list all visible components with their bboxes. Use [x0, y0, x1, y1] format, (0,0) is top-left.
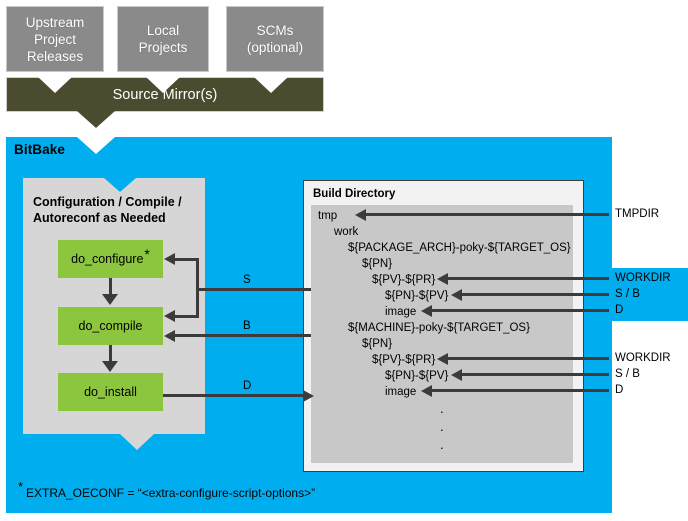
connector-line-workdir-2 — [448, 357, 609, 360]
task-do-compile[interactable]: do_compile — [58, 307, 163, 345]
connector-arrow-icon-tmpdir — [355, 209, 366, 221]
flow-line-d — [163, 394, 303, 397]
config-panel-title: Configuration / Compile / Autoreconf as … — [33, 194, 203, 226]
source-box-line: Releases — [26, 48, 85, 65]
connector-line-tmpdir — [366, 213, 609, 216]
connector-arrow-icon-sb-2 — [451, 369, 462, 381]
side-label-workdir-2: WORKDIR — [615, 352, 671, 364]
bitbake-inlet-notch-icon — [77, 137, 115, 154]
task-label: do_install — [84, 385, 137, 399]
ellipsis-dot: . — [440, 424, 444, 430]
mirror-output-arrow-icon — [77, 111, 115, 128]
mirror-notch-icon — [254, 77, 288, 93]
connector-line-workdir-1 — [448, 277, 609, 280]
flow-arrow-icon-b — [164, 330, 175, 342]
dir-entry-pn-pv-dir-2: ${PN}-${PV} — [385, 370, 448, 382]
flow-arrow-icon-s-compile — [164, 310, 175, 322]
connector-arrow-icon-d-2 — [421, 385, 432, 397]
connector-line-sb-1 — [462, 293, 609, 296]
dir-entry-pn-dir-2: ${PN} — [362, 338, 392, 350]
task-flow-line — [109, 345, 112, 362]
build-directory-title: Build Directory — [313, 188, 395, 200]
diagram-root: Upstream Project Releases Local Projects… — [0, 0, 688, 521]
source-box-upstream-project-releases: Upstream Project Releases — [6, 6, 104, 72]
dir-entry-machine-dir: ${MACHINE}-poky-${TARGET_OS} — [348, 322, 530, 334]
ellipsis-dot: . — [440, 406, 444, 412]
task-do-install[interactable]: do_install — [58, 373, 163, 411]
flow-line-s-to-configure — [175, 258, 199, 261]
dir-entry-image-dir-1: image — [385, 306, 416, 318]
dir-entry-image-dir-2: image — [385, 386, 416, 398]
side-label-d-1: D — [615, 304, 623, 316]
connector-arrow-icon-workdir-2 — [437, 353, 448, 365]
dir-entry-package-arch-dir: ${PACKAGE_ARCH}-poky-${TARGET_OS} — [348, 242, 571, 254]
connector-arrow-icon-sb-1 — [451, 289, 462, 301]
config-panel-title-line2: Autoreconf as Needed — [33, 210, 203, 226]
source-box-line: Project — [26, 31, 85, 48]
config-panel-title-line1: Configuration / Compile / — [33, 194, 203, 210]
side-label-d-2: D — [615, 384, 623, 396]
connector-arrow-icon-d-1 — [421, 305, 432, 317]
task-flow-arrow-icon — [102, 361, 118, 372]
source-box-local-projects: Local Projects — [117, 6, 209, 72]
connector-arrow-icon-workdir-1 — [437, 273, 448, 285]
side-label-tmpdir: TMPDIR — [615, 208, 659, 220]
source-box-line: (optional) — [247, 39, 303, 56]
source-box-line: Local — [139, 22, 188, 39]
dir-entry-pv-pr-dir-1: ${PV}-${PR} — [372, 274, 435, 286]
flow-label-d: D — [243, 380, 251, 392]
footnote-text: EXTRA_OECONF = “<extra-configure-script-… — [26, 486, 315, 500]
config-panel-notch-icon — [104, 178, 136, 192]
dir-entry-work: work — [334, 226, 358, 238]
side-label-sb-1: S / B — [615, 288, 640, 300]
flow-line-s-dropper — [196, 288, 199, 318]
task-do-configure[interactable]: do_configure* — [58, 240, 163, 278]
flow-line-b — [175, 334, 311, 337]
dir-entry-tmp: tmp — [318, 210, 337, 222]
ellipsis-dot: . — [440, 442, 444, 448]
task-label: do_compile — [79, 319, 143, 333]
footnote-star: * — [18, 479, 23, 494]
flow-arrow-icon-s-configure — [164, 253, 175, 265]
bitbake-title: BitBake — [14, 142, 65, 157]
flow-label-b: B — [243, 320, 251, 332]
source-box-line: SCMs — [247, 22, 303, 39]
flow-line-s — [196, 288, 311, 291]
mirror-notch-icon — [38, 77, 72, 93]
source-box-scms-optional: SCMs (optional) — [226, 6, 324, 72]
connector-line-d-2 — [432, 389, 609, 392]
footnote: * EXTRA_OECONF = “<extra-configure-scrip… — [18, 486, 315, 500]
config-panel-point-icon — [120, 434, 154, 450]
side-label-sb-2: S / B — [615, 368, 640, 380]
task-label: do_configure — [71, 252, 143, 266]
connector-line-sb-2 — [462, 373, 609, 376]
dir-entry-pn-pv-dir-1: ${PN}-${PV} — [385, 290, 448, 302]
flow-line-s-to-compile — [175, 315, 199, 318]
dir-entry-pn-dir-1: ${PN} — [362, 258, 392, 270]
flow-label-s: S — [243, 274, 251, 286]
mirror-notch-icon — [146, 77, 180, 93]
dir-entry-pv-pr-dir-2: ${PV}-${PR} — [372, 354, 435, 366]
flow-line-s-riser — [196, 258, 199, 291]
source-box-line: Upstream — [26, 14, 85, 31]
source-box-line: Projects — [139, 39, 188, 56]
flow-arrow-icon-d — [303, 390, 314, 402]
side-label-workdir-1: WORKDIR — [615, 272, 671, 284]
task-flow-arrow-icon — [102, 294, 118, 305]
connector-line-d-1 — [432, 309, 609, 312]
